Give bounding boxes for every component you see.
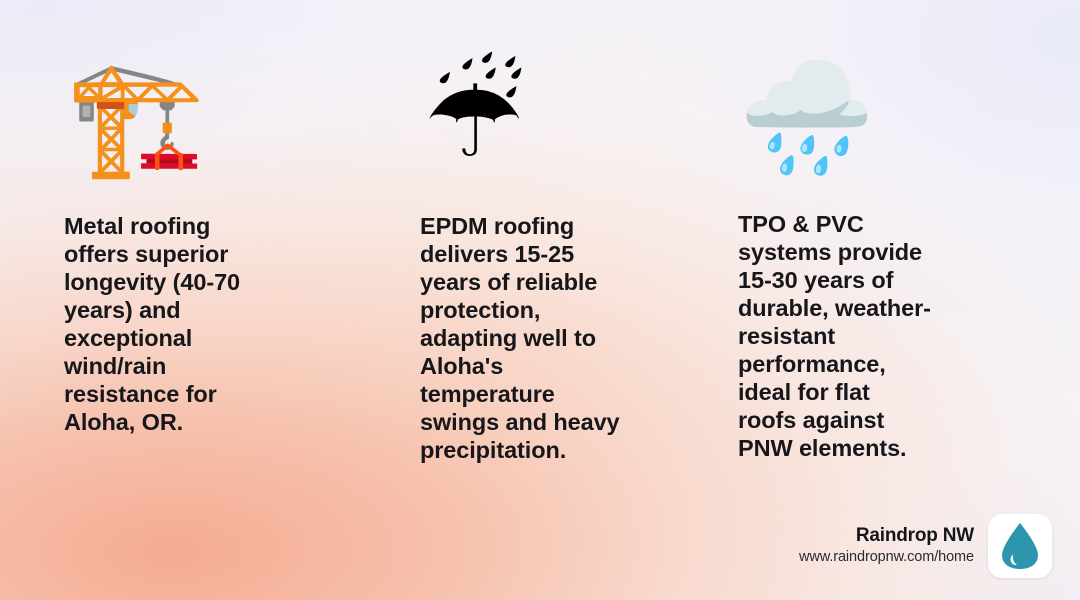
brand-footer: Raindrop NW www.raindropnw.com/home	[799, 514, 1052, 578]
water-droplet-icon	[1000, 522, 1040, 570]
column-body-text: TPO & PVC systems provide 15-30 years of…	[738, 210, 998, 462]
cloud-with-rain-icon: 🌧️	[738, 62, 1080, 172]
column-epdm-roofing: ☔ EPDM roofing delivers 15-25 years of r…	[360, 0, 720, 600]
umbrella-with-rain-drops-icon: ☔	[424, 62, 720, 174]
content-columns: 🏗️ Metal roofing offers superior longevi…	[0, 0, 1080, 600]
brand-logo-tile	[988, 514, 1052, 578]
column-body-text: EPDM roofing delivers 15-25 years of rel…	[420, 212, 672, 464]
infographic-card: 🏗️ Metal roofing offers superior longevi…	[0, 0, 1080, 600]
construction-crane-icon: 🏗️	[66, 62, 360, 174]
column-metal-roofing: 🏗️ Metal roofing offers superior longevi…	[0, 0, 360, 600]
brand-text-block: Raindrop NW www.raindropnw.com/home	[799, 526, 974, 567]
brand-name: Raindrop NW	[856, 526, 974, 547]
brand-website-url[interactable]: www.raindropnw.com/home	[799, 550, 974, 566]
column-tpo-pvc-systems: 🌧️ TPO & PVC systems provide 15-30 years…	[720, 0, 1080, 600]
column-body-text: Metal roofing offers superior longevity …	[64, 212, 314, 436]
